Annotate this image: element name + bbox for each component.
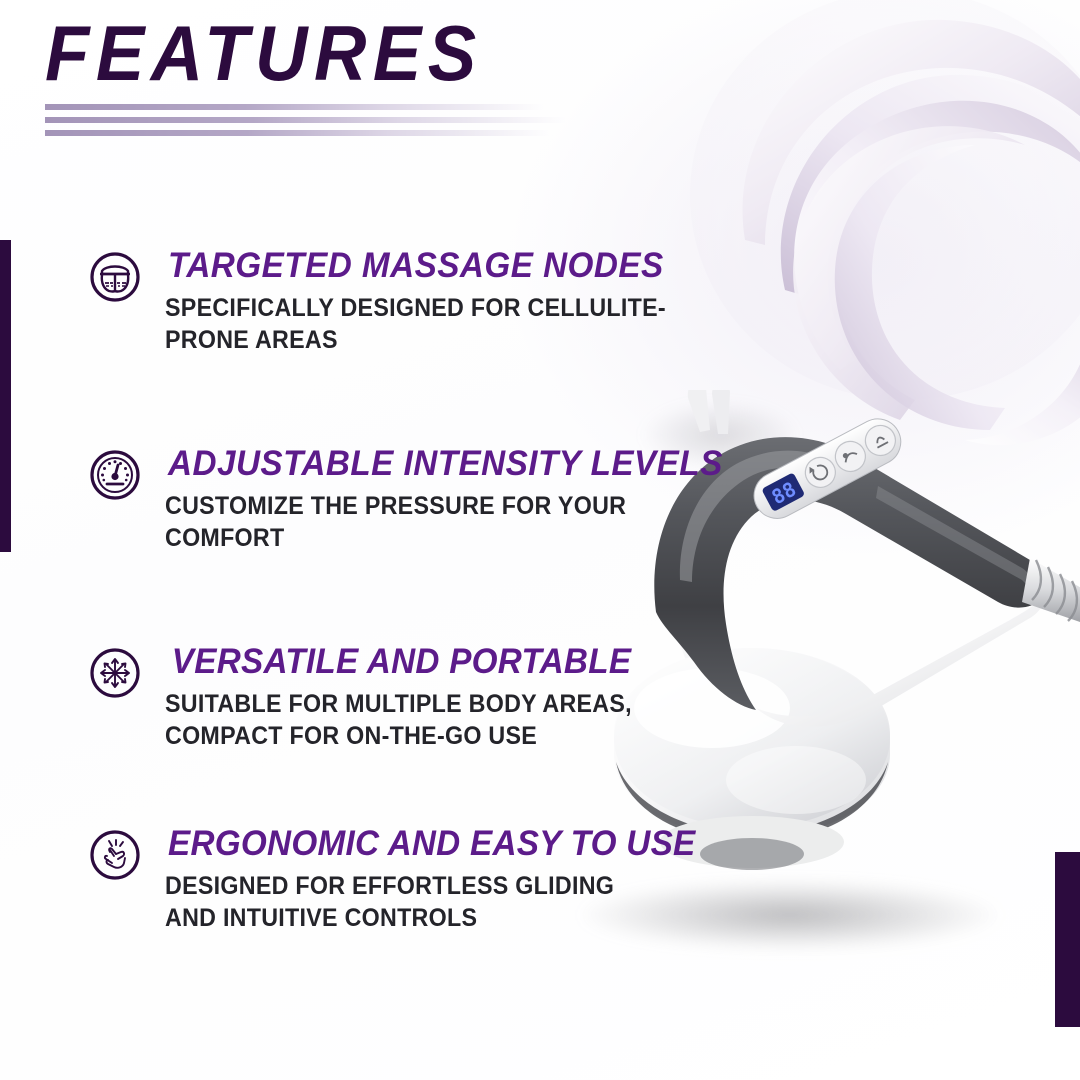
feature-body: ADJUSTABLE INTENSITY LEVELS CUSTOMIZE TH… xyxy=(88,446,752,554)
hand-gesture-icon xyxy=(88,828,142,882)
feature-description: SUITABLE FOR MULTIPLE BODY AREAS, COMPAC… xyxy=(165,688,632,752)
page-title: FEATURES xyxy=(45,18,622,90)
feature-item-adjustable-intensity-levels: ADJUSTABLE INTENSITY LEVELS CUSTOMIZE TH… xyxy=(88,446,752,554)
feature-title: ERGONOMIC AND EASY TO USE xyxy=(168,826,696,861)
multi-direction-arrows-icon xyxy=(88,646,142,700)
rule-line-3 xyxy=(45,130,550,136)
feature-description: DESIGNED FOR EFFORTLESS GLIDING AND INTU… xyxy=(165,870,684,934)
left-accent-bar xyxy=(0,240,11,552)
feature-body: ERGONOMIC AND EASY TO USE DESIGNED FOR E… xyxy=(88,826,723,934)
rule-line-1 xyxy=(45,104,545,110)
title-rules xyxy=(45,104,585,136)
gauge-icon xyxy=(88,448,142,502)
feature-item-targeted-massage-nodes: TARGETED MASSAGE NODES SPECIFICALLY DESI… xyxy=(88,248,708,356)
body-contour-icon xyxy=(88,250,142,304)
ribbon-knot-icon xyxy=(670,0,1080,450)
feature-item-versatile-and-portable: VERSATILE AND PORTABLE SUITABLE FOR MULT… xyxy=(88,644,667,752)
right-accent-bar xyxy=(1055,852,1080,1027)
poster-canvas: FEATURES xyxy=(0,0,1080,1080)
feature-body: TARGETED MASSAGE NODES SPECIFICALLY DESI… xyxy=(88,248,708,356)
rule-line-2 xyxy=(45,117,565,123)
feature-title: ADJUSTABLE INTENSITY LEVELS xyxy=(168,446,723,481)
feature-body: VERSATILE AND PORTABLE SUITABLE FOR MULT… xyxy=(88,644,667,752)
feature-description: CUSTOMIZE THE PRESSURE FOR YOUR COMFORT xyxy=(165,490,711,554)
feature-title: VERSATILE AND PORTABLE xyxy=(168,644,642,679)
feature-title: TARGETED MASSAGE NODES xyxy=(168,248,681,283)
feature-description: SPECIFICALLY DESIGNED FOR CELLULITE-PRON… xyxy=(165,292,670,356)
feature-item-ergonomic-and-easy-to-use: ERGONOMIC AND EASY TO USE DESIGNED FOR E… xyxy=(88,826,723,934)
header: FEATURES xyxy=(45,18,665,136)
svg-text:88: 88 xyxy=(767,477,800,510)
